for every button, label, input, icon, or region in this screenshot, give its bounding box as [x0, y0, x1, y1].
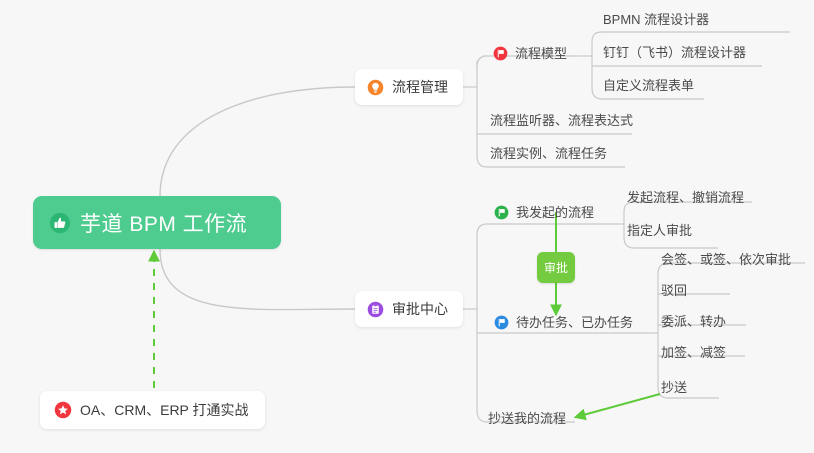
- node-todo-done[interactable]: 待办任务、已办任务: [494, 315, 633, 330]
- node-reject[interactable]: 驳回: [661, 284, 687, 297]
- clipboard-icon: [367, 301, 384, 318]
- flag-red-icon: [493, 46, 508, 61]
- node-flow-instance[interactable]: 流程实例、流程任务: [490, 147, 607, 160]
- node-delegate-transfer[interactable]: 委派、转办: [661, 315, 726, 328]
- mindmap-canvas: 芋道 BPM 工作流 流程管理 审批中心: [0, 0, 814, 453]
- node-approval-center-label: 审批中心: [392, 299, 448, 319]
- edge-assignee-underline: [624, 237, 718, 248]
- node-countersign[interactable]: 会签、或签、依次审批: [661, 253, 791, 266]
- node-custom-form[interactable]: 自定义流程表单: [603, 79, 694, 92]
- node-assignee-approve[interactable]: 指定人审批: [627, 224, 692, 237]
- edge-bpmn-underline: [592, 32, 790, 42]
- lightbulb-icon: [367, 79, 384, 96]
- node-todo-done-label: 待办任务、已办任务: [516, 316, 633, 329]
- flag-blue-icon: [494, 315, 509, 330]
- node-add-remove-sign[interactable]: 加签、减签: [661, 346, 726, 359]
- edge-root-to-flow-management: [160, 87, 355, 196]
- node-copy-to[interactable]: 抄送: [661, 381, 687, 394]
- root-label: 芋道 BPM 工作流: [80, 208, 247, 238]
- flag-green-icon: [494, 205, 509, 220]
- node-dingtalk-designer[interactable]: 钉钉（飞书）流程设计器: [603, 46, 746, 59]
- node-footnote[interactable]: OA、CRM、ERP 打通实战: [40, 391, 265, 429]
- thumbs-up-icon: [49, 212, 71, 234]
- node-start-revoke[interactable]: 发起流程、撤销流程: [627, 191, 744, 204]
- star-icon: [54, 401, 72, 419]
- node-cc-to-me[interactable]: 抄送我的流程: [488, 412, 566, 425]
- node-flow-management-label: 流程管理: [392, 77, 448, 97]
- edge-root-to-approval-center: [160, 249, 355, 310]
- node-flow-listener[interactable]: 流程监听器、流程表达式: [490, 114, 633, 127]
- node-my-started[interactable]: 我发起的流程: [494, 205, 594, 220]
- approve-tag-box[interactable]: 审批: [537, 252, 575, 283]
- root-node[interactable]: 芋道 BPM 工作流: [33, 196, 281, 249]
- node-footnote-label: OA、CRM、ERP 打通实战: [80, 400, 249, 420]
- edge-flow-model-baseline: [477, 56, 487, 67]
- node-flow-management[interactable]: 流程管理: [355, 69, 463, 105]
- edge-my-started-underline: [477, 224, 612, 235]
- node-my-started-label: 我发起的流程: [516, 206, 594, 219]
- approve-tag-label: 审批: [544, 259, 568, 276]
- node-approval-center[interactable]: 审批中心: [355, 291, 463, 327]
- green-arrow-copy-to-cc: [576, 394, 660, 417]
- node-bpmn-designer[interactable]: BPMN 流程设计器: [603, 13, 709, 26]
- node-flow-model-label: 流程模型: [515, 47, 567, 60]
- node-flow-model[interactable]: 流程模型: [493, 46, 567, 61]
